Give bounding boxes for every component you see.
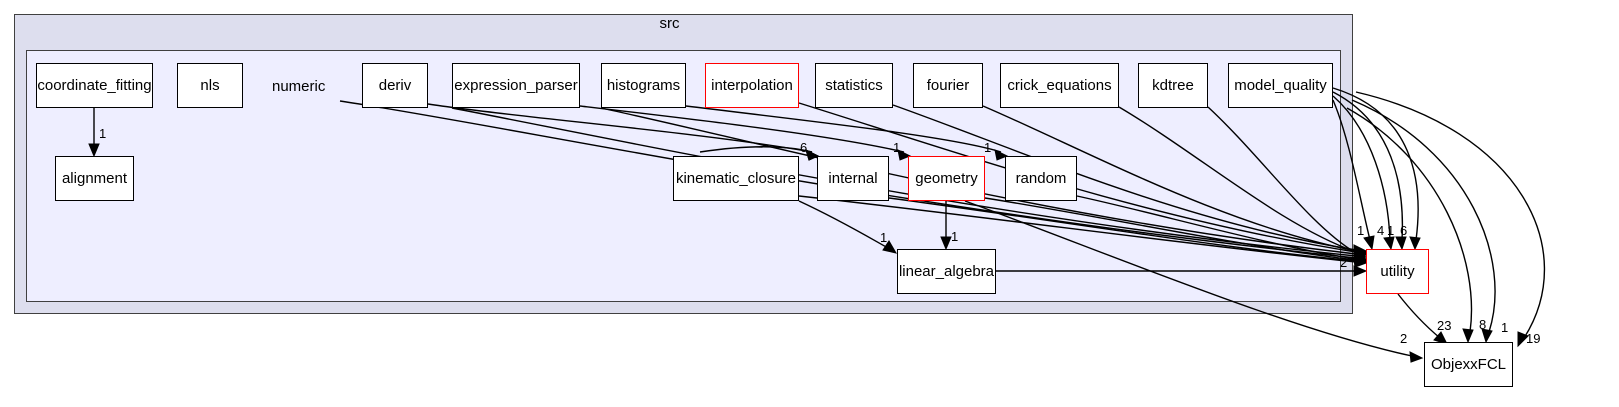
graph-node-model_quality[interactable]: model_quality xyxy=(1228,63,1333,108)
graph-node-statistics[interactable]: statistics xyxy=(815,63,893,108)
graph-node-nls[interactable]: nls xyxy=(177,63,243,108)
graph-node-expression_parser[interactable]: expression_parser xyxy=(452,63,580,108)
graph-node-label: interpolation xyxy=(711,77,793,94)
graph-node-fourier[interactable]: fourier xyxy=(913,63,983,108)
edge-label-util-c: 1 xyxy=(1387,223,1394,238)
graph-node-label: linear_algebra xyxy=(899,263,994,280)
graph-node-utility[interactable]: utility xyxy=(1366,249,1429,294)
graph-node-geometry[interactable]: geometry xyxy=(908,156,985,201)
graph-node-histograms[interactable]: histograms xyxy=(601,63,686,108)
graph-node-ObjexxFCL[interactable]: ObjexxFCL xyxy=(1424,342,1513,387)
graph-node-label: histograms xyxy=(607,77,680,94)
graph-node-label: alignment xyxy=(62,170,127,187)
graph-node-interpolation[interactable]: interpolation xyxy=(705,63,799,108)
graph-node-label: crick_equations xyxy=(1007,77,1111,94)
edge-label-to-geometry: 1 xyxy=(893,140,900,155)
edge-label-obj-8: 8 xyxy=(1479,317,1486,332)
graph-node-alignment[interactable]: alignment xyxy=(55,156,134,201)
graph-node-label: ObjexxFCL xyxy=(1431,356,1506,373)
graph-node-kinematic_closure[interactable]: kinematic_closure xyxy=(673,156,799,201)
edge-label-obj-2: 2 xyxy=(1400,331,1407,346)
edge-label-obj-23: 23 xyxy=(1437,318,1451,333)
graph-node-coordinate_fitting[interactable]: coordinate_fitting xyxy=(36,63,153,108)
graph-node-kdtree[interactable]: kdtree xyxy=(1138,63,1208,108)
edge-label-geo-lin: 1 xyxy=(951,229,958,244)
graph-node-label: model_quality xyxy=(1234,77,1327,94)
dependency-graph-canvas: src numeric xyxy=(0,0,1619,407)
edge-label-obj-1: 1 xyxy=(1501,320,1508,335)
graph-node-label: nls xyxy=(200,77,219,94)
edge-label-kc-internal: 6 xyxy=(800,140,807,155)
graph-node-label: internal xyxy=(828,170,877,187)
graph-node-internal[interactable]: internal xyxy=(817,156,889,201)
graph-node-linear_algebra[interactable]: linear_algebra xyxy=(897,249,996,294)
graph-node-label: utility xyxy=(1380,263,1414,280)
graph-node-crick_equations[interactable]: crick_equations xyxy=(1000,63,1119,108)
edge-label-util-d: 6 xyxy=(1400,223,1407,238)
graph-node-label: fourier xyxy=(927,77,970,94)
edge-label-util-b: 4 xyxy=(1377,223,1384,238)
edge-label-cf-align: 1 xyxy=(99,126,106,141)
graph-node-label: random xyxy=(1016,170,1067,187)
edge-label-kc-lin: 1 xyxy=(880,230,887,245)
edge-label-util-a: 1 xyxy=(1357,223,1364,238)
edge-label-obj-19: 19 xyxy=(1526,331,1540,346)
graph-node-random[interactable]: random xyxy=(1005,156,1077,201)
graph-node-label: deriv xyxy=(379,77,412,94)
edge-label-to-random: 1 xyxy=(984,140,991,155)
graph-node-label: kdtree xyxy=(1152,77,1194,94)
graph-node-label: kinematic_closure xyxy=(676,170,796,187)
graph-node-label: geometry xyxy=(915,170,978,187)
graph-node-label: expression_parser xyxy=(454,77,577,94)
edge-label-lin-util: 2 xyxy=(1340,255,1347,270)
graph-node-deriv[interactable]: deriv xyxy=(362,63,428,108)
graph-node-label: coordinate_fitting xyxy=(37,77,151,94)
graph-node-label: statistics xyxy=(825,77,883,94)
edge-layer xyxy=(0,0,1619,407)
